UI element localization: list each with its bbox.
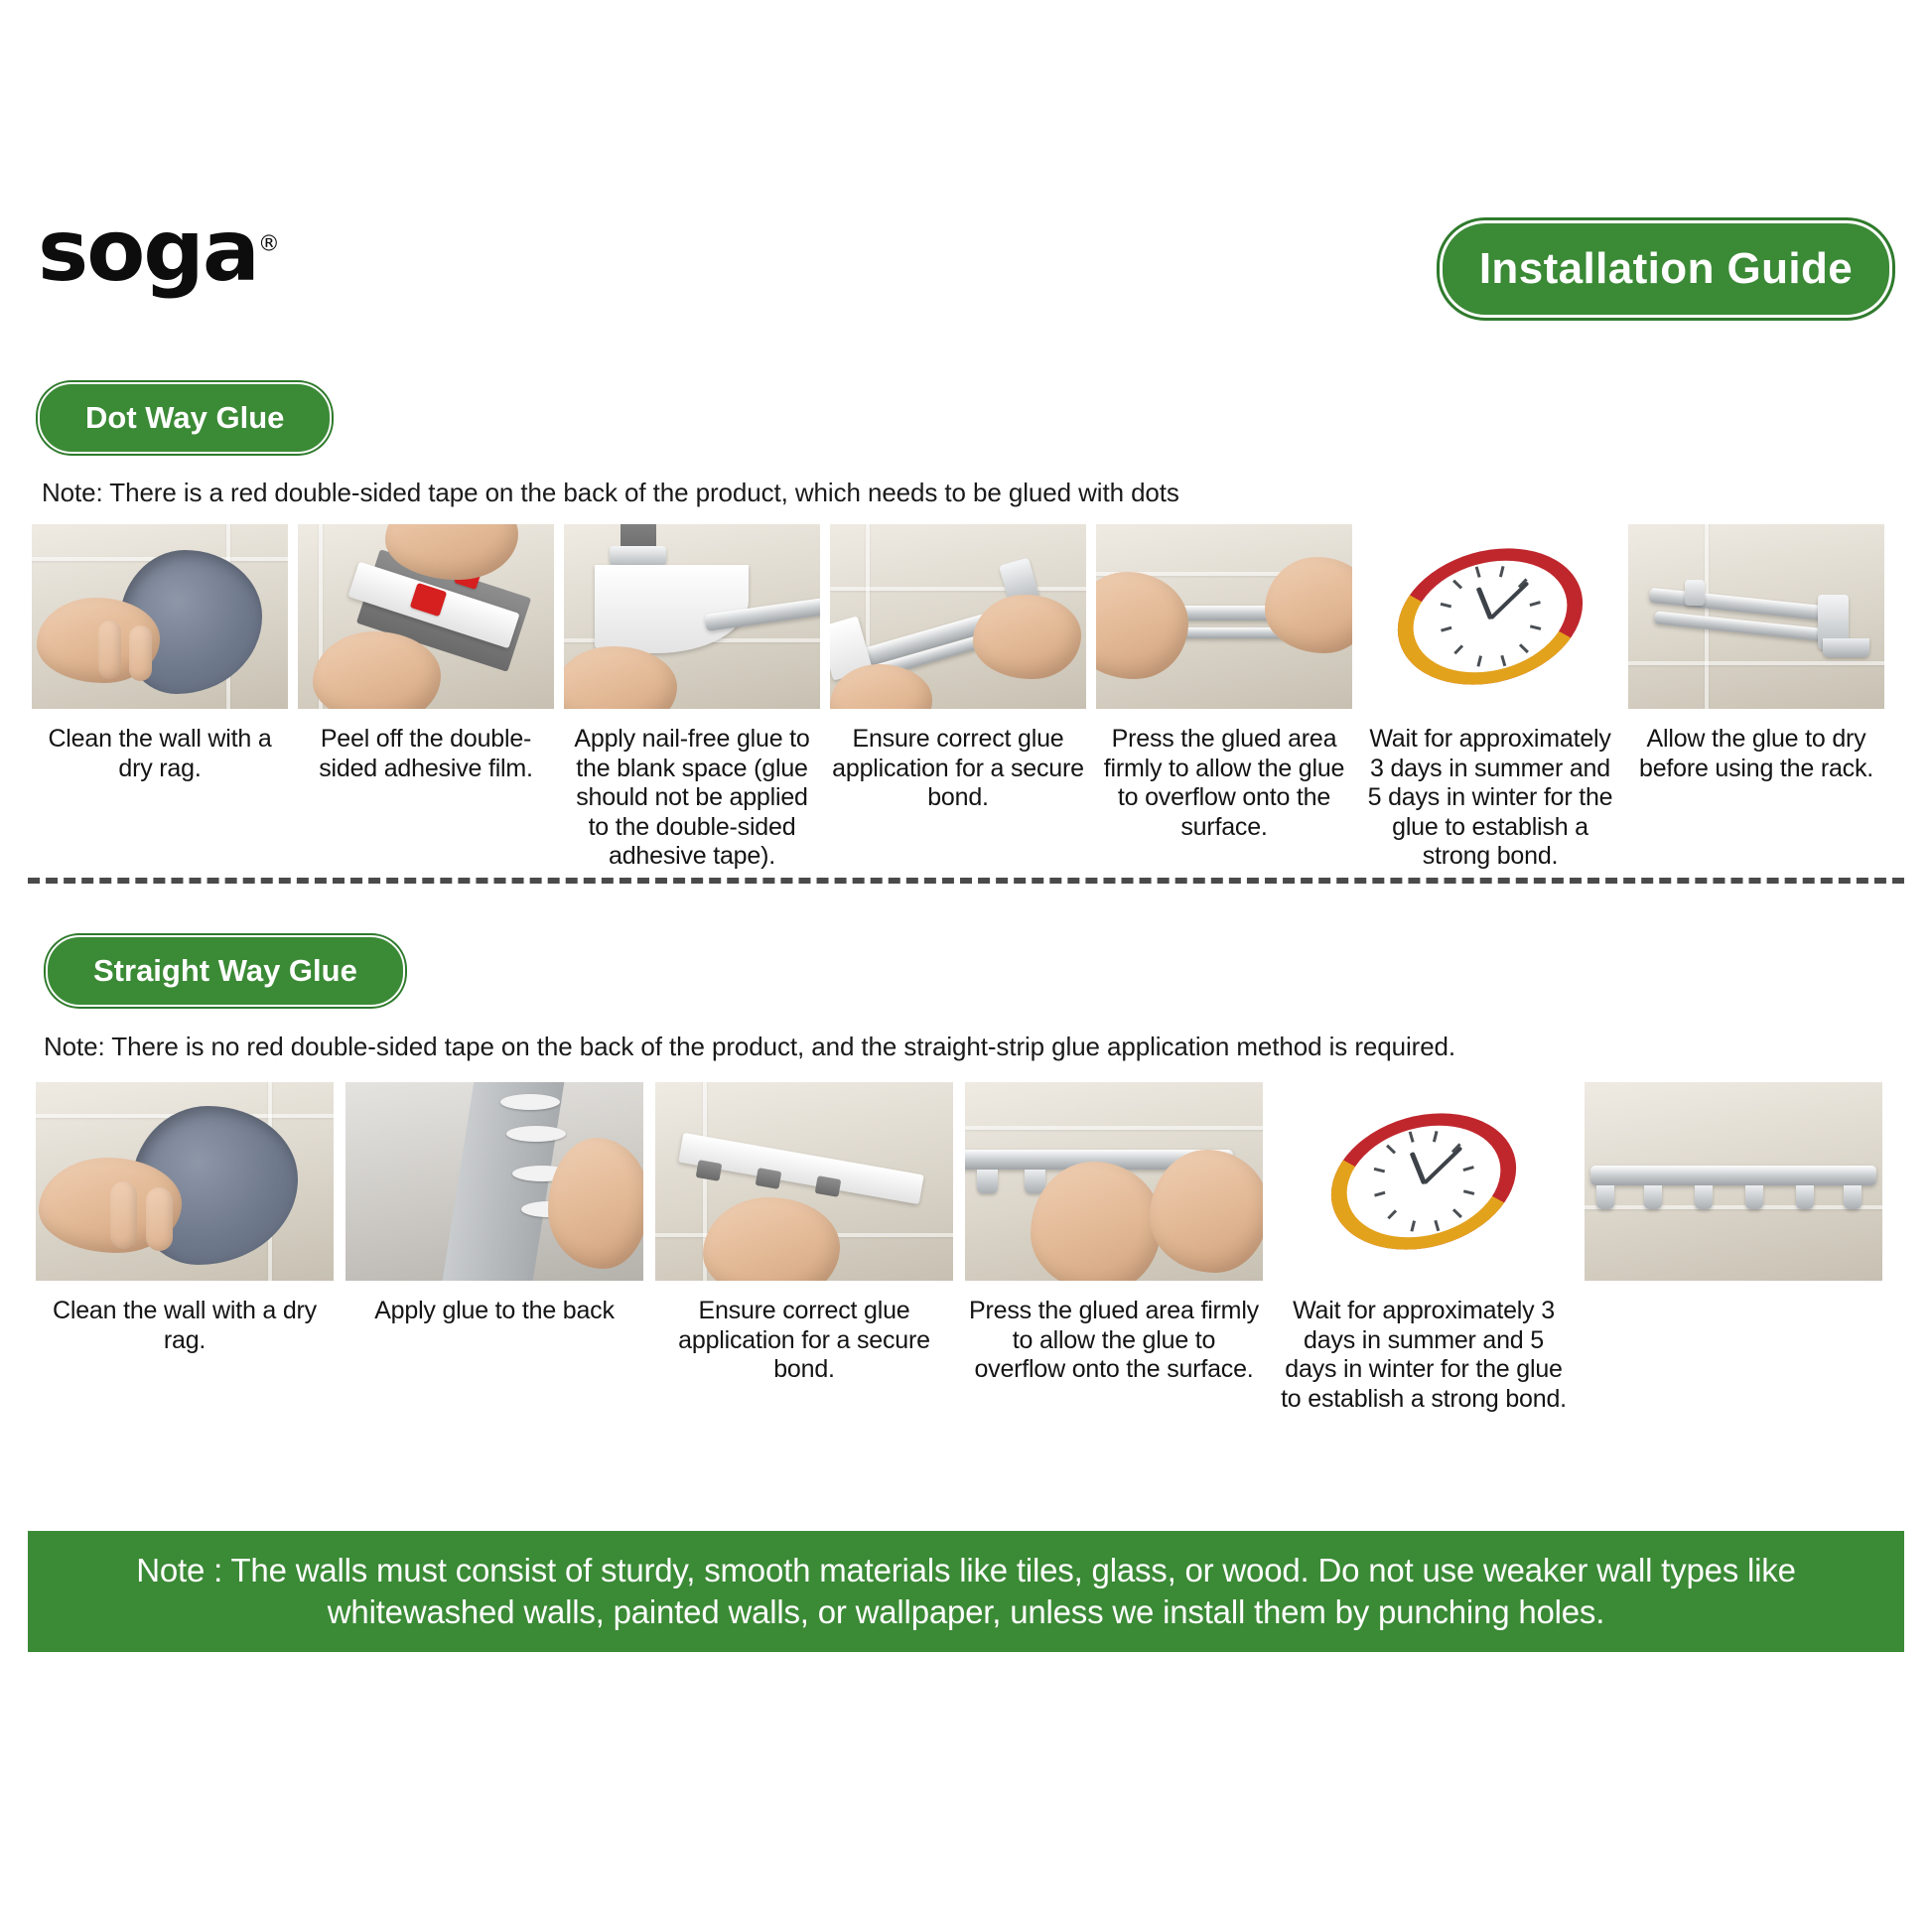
glue-bead (500, 1094, 560, 1110)
photo-finished-hook-rail (1585, 1082, 1882, 1281)
dot-way-glue-pill: Dot Way Glue (38, 382, 332, 454)
grout-line (1585, 1205, 1882, 1209)
rail-segment (756, 1168, 782, 1189)
step-press-area-dot: Press the glued area firmly to allow the… (1096, 524, 1352, 872)
clock-tick (1474, 567, 1480, 578)
clock-tick (1498, 566, 1504, 577)
finger (98, 621, 121, 680)
clock-icon (1314, 1092, 1532, 1270)
installation-guide-badge-label: Installation Guide (1479, 244, 1853, 294)
step-apply-glue-back-straight: Apply glue to the back (345, 1082, 643, 1414)
clock-tick (1529, 601, 1540, 607)
straight-way-glue-note: Note: There is no red double-sided tape … (44, 1032, 1455, 1062)
step-caption: Apply glue to the back (345, 1297, 643, 1326)
photo-press-glued-area (1096, 524, 1352, 709)
hand (548, 1138, 643, 1269)
photo-peel-adhesive-film (298, 524, 554, 709)
step-caption: Press the glued area firmly to allow the… (965, 1297, 1263, 1385)
rack-hook (1823, 638, 1868, 657)
registered-trademark-icon: ® (258, 231, 280, 256)
clock-icon (1381, 527, 1598, 705)
hand (1031, 1162, 1162, 1281)
rack-hook (1596, 1185, 1614, 1209)
straight-way-glue-pill-label: Straight Way Glue (93, 953, 357, 989)
step-caption: Allow the glue to dry before using the r… (1628, 725, 1884, 783)
clock-minute-hand (1423, 1146, 1462, 1184)
section-divider (28, 878, 1904, 884)
hand (973, 595, 1080, 680)
clock-tick (1440, 603, 1450, 609)
rack-bracket (1685, 580, 1706, 606)
rack-hook (1644, 1185, 1662, 1209)
clock-tick (1441, 626, 1451, 632)
clock-tick (1387, 1209, 1397, 1219)
page-header: soga® Installation Guide (0, 208, 1932, 347)
step-caption: Clean the wall with a dry rag. (32, 725, 288, 783)
step-caption: Wait for approximately 3 days in summer … (1362, 725, 1618, 872)
step-wait-time-straight: Wait for approximately 3 days in summer … (1275, 1082, 1573, 1414)
step-caption: Clean the wall with a dry rag. (36, 1297, 334, 1355)
step-caption: Peel off the double-sided adhesive film. (298, 725, 554, 783)
step-caption: Press the glued area firmly to allow the… (1096, 725, 1352, 842)
icon-clock-wait-time (1362, 524, 1618, 709)
step-correct-application-dot: Ensure correct glue application for a se… (830, 524, 1086, 872)
finger (146, 1187, 173, 1251)
glue-tube-body (610, 546, 666, 565)
step-apply-glue-dot: Apply nail-free glue to the blank space … (564, 524, 820, 872)
clock-tick (1410, 1220, 1416, 1231)
finger (129, 625, 152, 681)
straight-way-glue-note-wrap: Note: There is no red double-sided tape … (44, 1032, 1455, 1062)
straight-way-glue-pill: Straight Way Glue (46, 935, 405, 1007)
clock-tick (1518, 643, 1528, 653)
installation-guide-badge: Installation Guide (1440, 220, 1892, 318)
step-caption: Ensure correct glue application for a se… (655, 1297, 953, 1385)
step-clean-wall-dot: Clean the wall with a dry rag. (32, 524, 288, 872)
clock-tick (1408, 1132, 1414, 1143)
step-caption: Wait for approximately 3 days in summer … (1275, 1297, 1573, 1414)
rack-hook (1844, 1185, 1862, 1209)
clock-tick (1374, 1191, 1385, 1197)
step-clean-wall-straight: Clean the wall with a dry rag. (36, 1082, 334, 1414)
dot-way-glue-pill-label: Dot Way Glue (85, 400, 284, 436)
photo-apply-glue-to-back (345, 1082, 643, 1281)
brand-logo: soga® (38, 208, 280, 294)
clock-tick (1452, 580, 1462, 590)
clock-tick (1373, 1168, 1384, 1173)
clock-minute-hand (1489, 581, 1529, 620)
photo-clean-wall-with-rag (36, 1082, 334, 1281)
step-finished-hook-rail-straight (1585, 1082, 1882, 1414)
rack-hook (1796, 1185, 1814, 1209)
photo-finished-towel-rack (1628, 524, 1884, 709)
footer-warning-note: Note : The walls must consist of sturdy,… (28, 1531, 1904, 1652)
rail-segment (815, 1175, 842, 1197)
straight-way-glue-pill-wrap: Straight Way Glue (46, 935, 405, 1007)
photo-press-glued-rail (965, 1082, 1263, 1281)
rack-hook (977, 1170, 998, 1193)
clock-tick (1386, 1145, 1396, 1155)
hook-rail (1590, 1166, 1876, 1185)
clock-tick (1451, 1208, 1461, 1218)
rack-hook (1695, 1185, 1713, 1209)
step-finished-rack-dot: Allow the glue to dry before using the r… (1628, 524, 1884, 872)
photo-correct-glue-application (830, 524, 1086, 709)
grout-line (1628, 661, 1884, 665)
grout-line (965, 1126, 1263, 1130)
dot-way-glue-note: Note: There is a red double-sided tape o… (42, 478, 1179, 508)
brand-logo-text: soga (38, 202, 258, 301)
clock-tick (1462, 1166, 1473, 1172)
step-caption: Ensure correct glue application for a se… (830, 725, 1086, 813)
installation-guide-page: soga® Installation Guide Dot Way Glue No… (0, 0, 1932, 1932)
hand (1150, 1150, 1263, 1273)
step-wait-time-dot: Wait for approximately 3 days in summer … (1362, 524, 1618, 872)
rail-segment (696, 1160, 723, 1181)
straight-way-glue-steps: Clean the wall with a dry rag. Apply glu… (36, 1082, 1902, 1414)
finger (110, 1181, 137, 1249)
glue-bead (506, 1126, 566, 1142)
icon-clock-wait-time (1275, 1082, 1573, 1281)
rack-hook (1745, 1185, 1763, 1209)
dot-way-glue-note-wrap: Note: There is a red double-sided tape o… (42, 478, 1179, 508)
clock-tick (1476, 655, 1482, 666)
photo-clean-wall-with-rag (32, 524, 288, 709)
clock-tick (1500, 655, 1506, 666)
step-press-rail-straight: Press the glued area firmly to allow the… (965, 1082, 1263, 1414)
dot-way-glue-pill-wrap: Dot Way Glue (38, 382, 332, 454)
clock-tick (1529, 624, 1540, 630)
footer-note-text: Note : The walls must consist of sturdy,… (58, 1550, 1874, 1632)
clock-tick (1432, 1131, 1438, 1142)
step-correct-application-straight: Ensure correct glue application for a se… (655, 1082, 953, 1414)
photo-correct-glue-application-strip (655, 1082, 953, 1281)
step-caption: Apply nail-free glue to the blank space … (564, 725, 820, 872)
clock-tick (1453, 644, 1463, 654)
clock-tick (1462, 1189, 1473, 1195)
dot-way-glue-steps: Clean the wall with a dry rag. Peel off … (32, 524, 1898, 872)
photo-apply-nail-free-glue (564, 524, 820, 709)
clock-tick (1434, 1220, 1440, 1231)
step-peel-film-dot: Peel off the double-sided adhesive film. (298, 524, 554, 872)
